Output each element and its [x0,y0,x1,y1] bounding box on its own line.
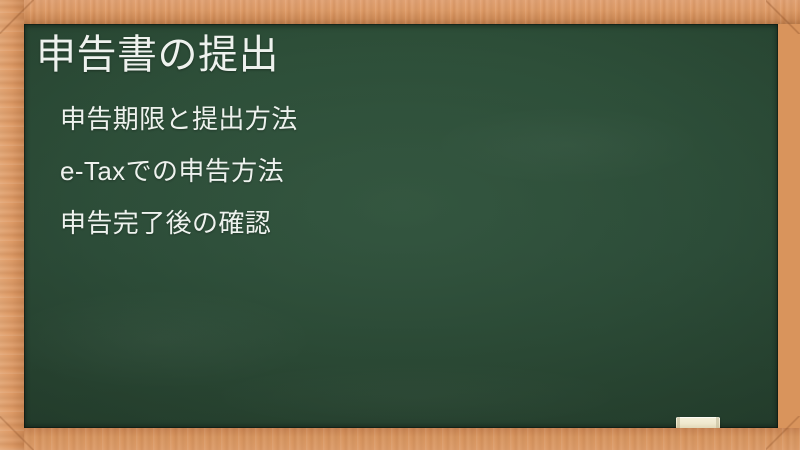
bullet-item-2: e-Taxでの申告方法 [60,158,298,184]
frame-plank-bottom [0,428,800,450]
chalkboard-surface: 申告書の提出 申告期限と提出方法 e-Taxでの申告方法 申告完了後の確認 [24,24,778,428]
bullet-item-3: 申告完了後の確認 [60,210,298,236]
slide-title: 申告書の提出 [36,30,279,80]
bullet-item-1: 申告期限と提出方法 [60,106,298,132]
chalk-end-left [677,417,680,428]
slide-content: 申告書の提出 申告期限と提出方法 e-Taxでの申告方法 申告完了後の確認 [24,24,778,428]
chalk-stick-icon [676,417,720,428]
frame-plank-left [0,0,24,450]
frame-plank-top [0,0,800,24]
slide-bullet-list: 申告期限と提出方法 e-Taxでの申告方法 申告完了後の確認 [60,106,298,236]
frame-plank-right [778,0,800,450]
chalk-end-right [716,417,719,428]
chalkboard-slide: 申告書の提出 申告期限と提出方法 e-Taxでの申告方法 申告完了後の確認 [0,0,800,450]
